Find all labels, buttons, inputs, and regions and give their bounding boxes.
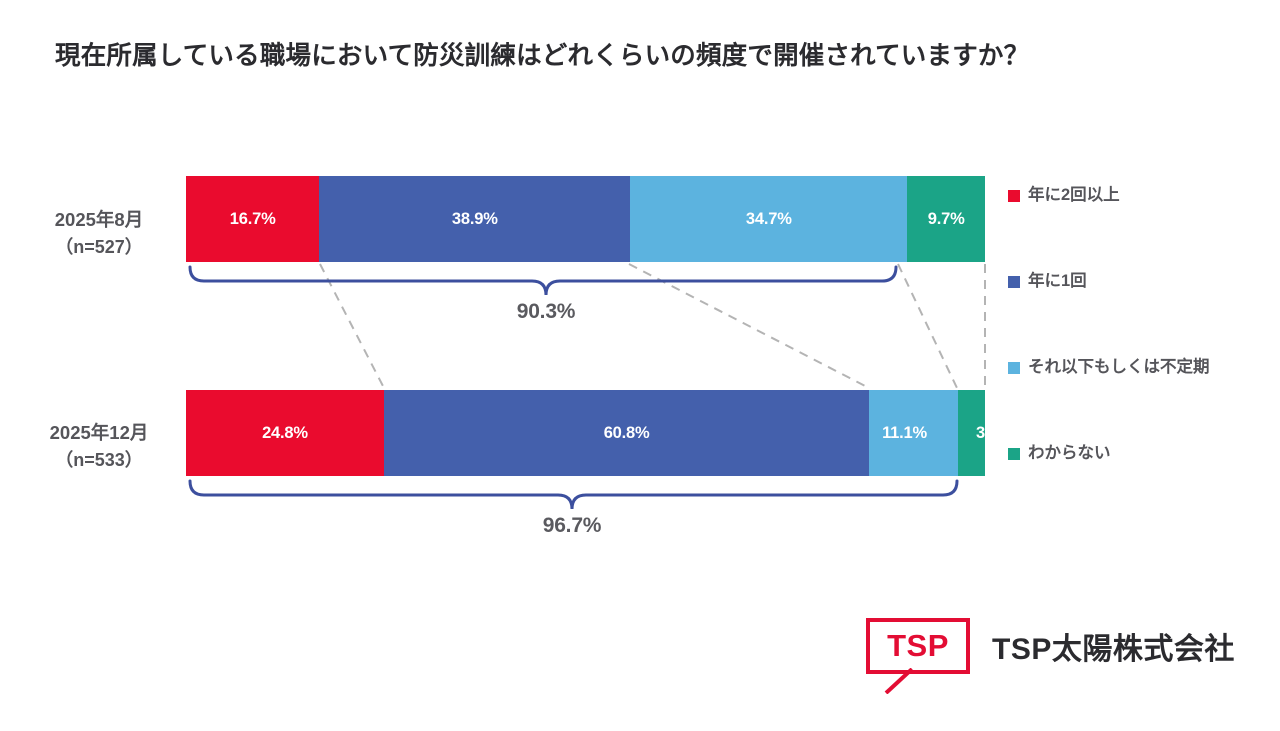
legend-item-label: 年に2回以上 xyxy=(1028,186,1120,206)
bar-segment-year-2plus-2025-08[interactable]: 16.7% xyxy=(186,176,319,262)
category-label-line1: 2025年12月 xyxy=(50,422,149,443)
bar-segment-label: 24.8% xyxy=(262,424,308,443)
company-name: TSP太陽株式会社 xyxy=(992,624,1235,668)
bar-segment-unknown-2025-12[interactable]: 3.4% xyxy=(958,390,985,476)
legend-item-year-1[interactable]: 年に1回 xyxy=(1008,272,1270,358)
connector-line-blue-lightblue xyxy=(629,264,869,388)
bar-segment-label: 3.4% xyxy=(976,424,1013,443)
connector-line-lightblue-green xyxy=(898,264,957,388)
table-row: 24.8% 60.8% 11.1% 3.4% xyxy=(186,390,985,476)
chart-legend: 年に2回以上 年に1回 それ以下もしくは不定期 わからない xyxy=(1008,186,1270,530)
bar-segment-label: 11.1% xyxy=(882,424,927,443)
category-label-line2: （n=527） xyxy=(24,234,174,260)
table-row: 16.7% 38.9% 34.7% 9.7% xyxy=(186,176,985,262)
bar-segment-less-or-irregular-2025-08[interactable]: 34.7% xyxy=(630,176,907,262)
bar-segment-less-or-irregular-2025-12[interactable]: 11.1% xyxy=(869,390,958,476)
speech-bubble-tail-icon xyxy=(884,668,914,694)
category-label-line2: （n=533） xyxy=(24,447,174,473)
legend-swatch-icon xyxy=(1008,190,1020,202)
category-label-2025-08: 2025年8月 （n=527） xyxy=(24,207,174,260)
legend-item-year-2plus[interactable]: 年に2回以上 xyxy=(1008,186,1270,272)
bar-segment-label: 9.7% xyxy=(928,210,965,229)
tsp-logo-text: TSP xyxy=(866,618,970,674)
bar-segment-year-1-2025-12[interactable]: 60.8% xyxy=(384,390,869,476)
category-label-2025-12: 2025年12月 （n=533） xyxy=(24,420,174,473)
brace-bottom xyxy=(190,481,957,509)
bar-segment-year-1-2025-08[interactable]: 38.9% xyxy=(319,176,630,262)
bar-segment-year-2plus-2025-12[interactable]: 24.8% xyxy=(186,390,384,476)
tsp-logo-mark-icon: TSP xyxy=(866,618,970,674)
brace-label-bottom: 96.7% xyxy=(543,514,602,538)
bar-segment-label: 34.7% xyxy=(746,210,792,229)
category-label-line1: 2025年8月 xyxy=(55,209,143,230)
legend-swatch-icon xyxy=(1008,448,1020,460)
bar-segment-unknown-2025-08[interactable]: 9.7% xyxy=(907,176,985,262)
legend-swatch-icon xyxy=(1008,276,1020,288)
brace-top xyxy=(190,267,896,295)
legend-item-label: それ以下もしくは不定期 xyxy=(1028,358,1210,378)
brand-logo: TSP TSP太陽株式会社 xyxy=(866,618,1235,674)
legend-item-label: 年に1回 xyxy=(1028,272,1087,292)
brace-label-top: 90.3% xyxy=(517,300,576,324)
legend-swatch-icon xyxy=(1008,362,1020,374)
bar-segment-label: 38.9% xyxy=(452,210,498,229)
bar-segment-label: 16.7% xyxy=(230,210,276,229)
legend-item-less-or-irregular[interactable]: それ以下もしくは不定期 xyxy=(1008,358,1270,444)
legend-item-unknown[interactable]: わからない xyxy=(1008,444,1270,530)
connector-line-red-blue xyxy=(320,264,384,388)
bar-segment-label: 60.8% xyxy=(604,424,650,443)
legend-item-label: わからない xyxy=(1028,444,1111,464)
